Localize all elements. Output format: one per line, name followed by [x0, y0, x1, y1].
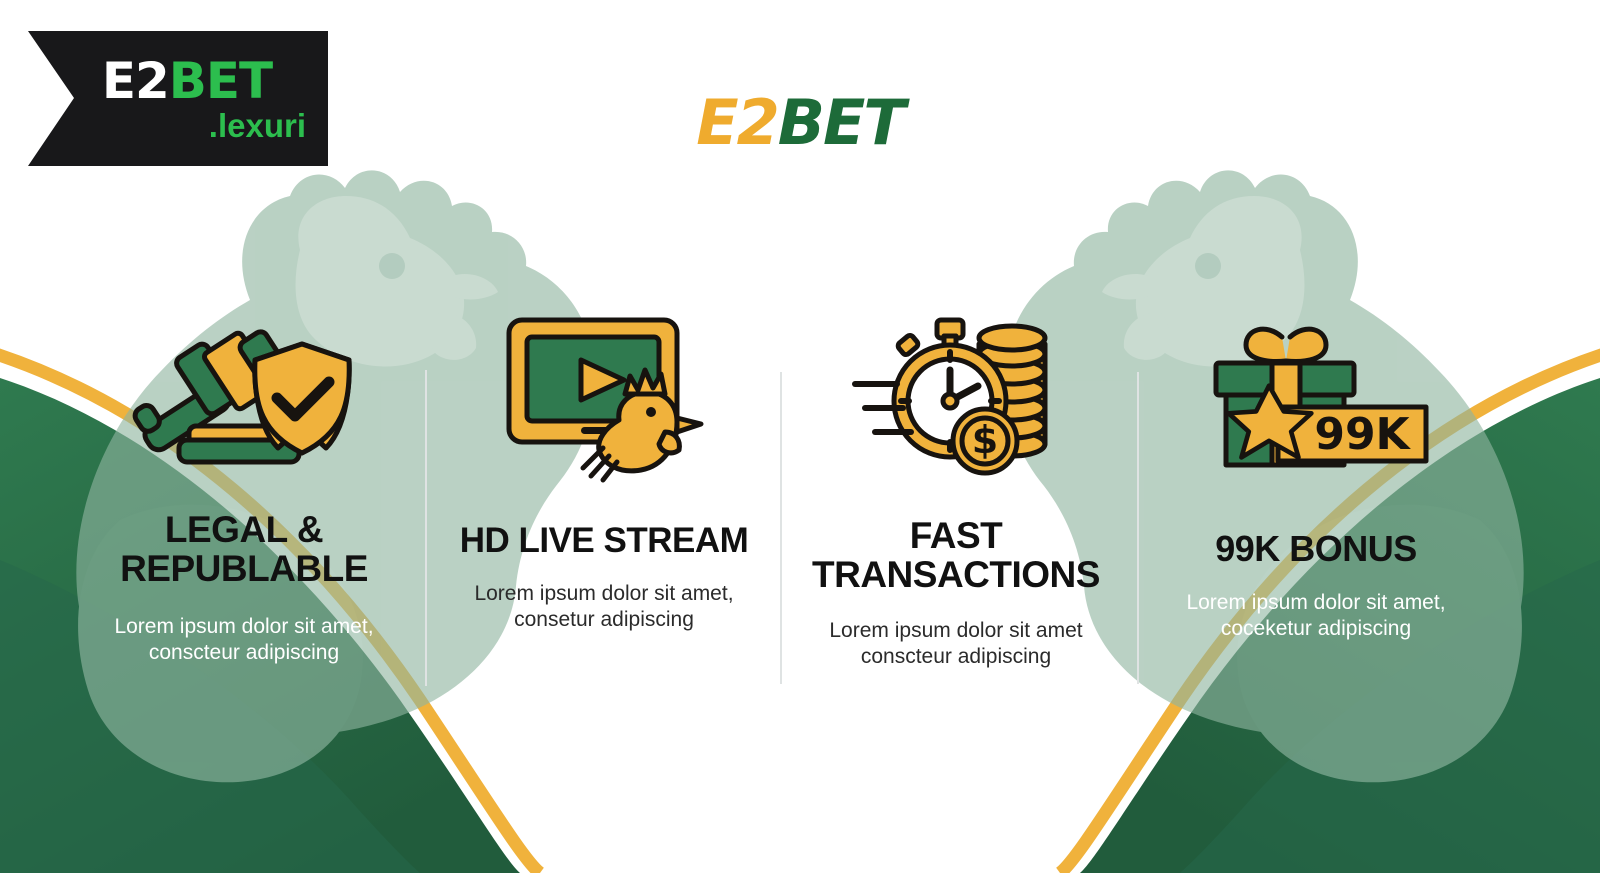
feature-subtitle: Lorem ipsum dolor sit amet, consetur adi… [452, 581, 756, 633]
badge-wordmark-suffix: BET [169, 52, 272, 110]
rooster-eye-right [1195, 253, 1221, 279]
feature-title: HD LIVE STREAM [460, 522, 749, 559]
rooster-beak-right [1102, 274, 1148, 300]
feature-subtitle: Lorem ipsum dolor sit amet, coceketur ad… [1162, 590, 1470, 642]
feature-item-stream[interactable]: HD LIVE STREAM Lorem ipsum dolor sit ame… [452, 300, 756, 633]
svg-text:$: $ [972, 418, 998, 462]
gift-banner-icon-wrap: 99K [1204, 300, 1429, 490]
stopwatch-coins-icon: $ [851, 308, 1061, 483]
feature-subtitle: Lorem ipsum dolor sit amet conscteur adi… [806, 618, 1106, 670]
rooster-beak-left [452, 274, 498, 300]
feature-subtitle: Lorem ipsum dolor sit amet, conscteur ad… [88, 614, 400, 666]
logo-part-e2: E2 [696, 86, 778, 159]
feature-item-transactions[interactable]: $ FAST TRANSACTIONS Lorem ipsum dolor si… [806, 300, 1106, 671]
badge-wordmark-prefix: E2 [102, 52, 169, 110]
feature-title: 99K BONUS [1215, 530, 1417, 568]
rooster-eye-left [379, 253, 405, 279]
gavel-shield-icon-wrap [127, 300, 362, 490]
stopwatch-coins-icon-wrap: $ [851, 300, 1061, 490]
feature-title: LEGAL & REPUBLABLE [88, 510, 400, 588]
bonus-badge-value: 99K [1314, 409, 1411, 460]
live-stream-rooster-icon [499, 308, 709, 483]
gavel-shield-icon [127, 308, 362, 483]
feature-title: FAST TRANSACTIONS [806, 516, 1106, 594]
feature-item-bonus[interactable]: 99K 99K BONUS Lorem ipsum dolor sit amet… [1162, 300, 1470, 642]
gift-banner-icon: 99K [1204, 315, 1429, 475]
badge-wordmark: E2BET [102, 56, 272, 106]
corner-brand-badge[interactable]: E2BET .lexuri [28, 31, 328, 166]
promo-banner: E2BET .lexuri E2BET [0, 0, 1600, 873]
feature-columns: LEGAL & REPUBLABLE Lorem ipsum dolor sit… [0, 300, 1600, 720]
badge-domain: .lexuri [209, 109, 306, 142]
logo-part-bet: BET [778, 86, 904, 159]
live-stream-rooster-icon-wrap [499, 300, 709, 490]
feature-item-legal[interactable]: LEGAL & REPUBLABLE Lorem ipsum dolor sit… [88, 300, 400, 667]
